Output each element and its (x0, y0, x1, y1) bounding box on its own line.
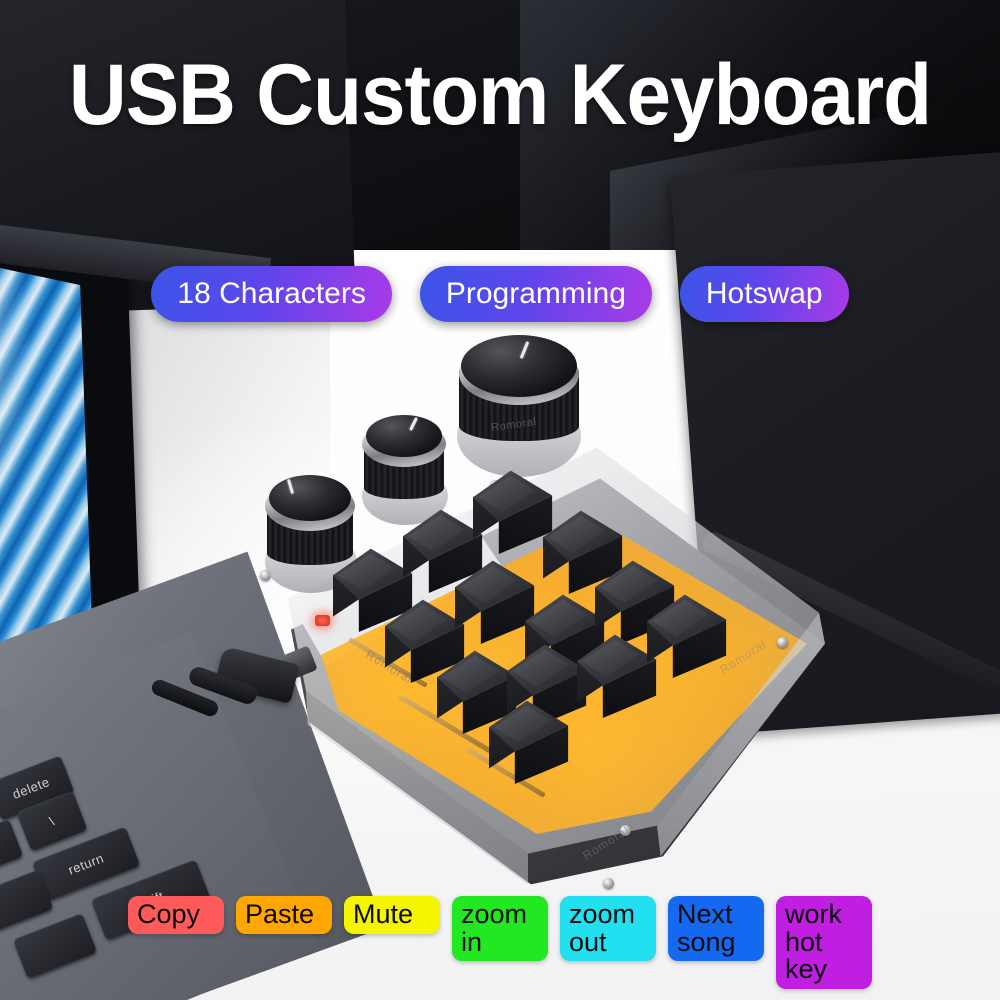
chip-label-line: work (785, 901, 842, 929)
knob-medium-cap (366, 415, 442, 457)
case-screw-bottom-left (603, 878, 614, 889)
feature-pill-characters[interactable]: 18 Characters (151, 266, 391, 322)
chip-label-line: song (677, 929, 736, 957)
knob-large-cap (461, 335, 577, 397)
function-chip-next-song[interactable]: Nextsong (668, 896, 764, 961)
chip-label-line: key (785, 956, 827, 984)
knob-large-volume[interactable]: Romoral (455, 335, 585, 475)
page-title: USB Custom Keyboard (35, 52, 965, 138)
laptop-key-return-label: return (66, 850, 106, 877)
function-chip-zoom-in[interactable]: zoomin (452, 896, 548, 961)
case-screw-right (777, 637, 788, 648)
chip-label-line: out (569, 929, 607, 957)
chip-label-line: Paste (245, 901, 314, 929)
chip-label-line: in (461, 929, 482, 957)
power-indicator-led (315, 615, 330, 626)
function-chip-zoom-out[interactable]: zoomout (560, 896, 656, 961)
macropad-device: Romoral Romoral Romoral Romoral (225, 330, 825, 890)
function-chip-row: Copy Paste Mute zoomin zoomout Nextsong … (0, 896, 1000, 989)
function-chip-paste[interactable]: Paste (236, 896, 332, 934)
function-chip-copy[interactable]: Copy (128, 896, 224, 934)
feature-pill-row: 18 Characters Programming Hotswap (0, 266, 1000, 322)
chip-label-line: zoom (569, 901, 635, 929)
chip-label-line: Copy (137, 901, 200, 929)
chip-label-line: Next (677, 901, 733, 929)
keycap-r3c4[interactable] (647, 592, 733, 678)
function-chip-mute[interactable]: Mute (344, 896, 440, 934)
chip-label-line: zoom (461, 901, 527, 929)
chip-label-line: hot (785, 929, 823, 957)
knob-small-cap (269, 475, 351, 521)
chip-label-line: Mute (353, 901, 413, 929)
laptop-key-backslash-label: \ (47, 813, 56, 828)
product-photo-scene: delete \ return shift (0, 0, 1000, 1000)
keycap-front-extra[interactable] (489, 698, 575, 784)
function-chip-work-hot-key[interactable]: workhotkey (776, 896, 872, 989)
feature-pill-programming[interactable]: Programming (420, 266, 652, 322)
feature-pill-hotswap[interactable]: Hotswap (680, 266, 849, 322)
laptop-key-delete-label: delete (10, 774, 51, 802)
product-marketing-image: delete \ return shift (0, 0, 1000, 1000)
